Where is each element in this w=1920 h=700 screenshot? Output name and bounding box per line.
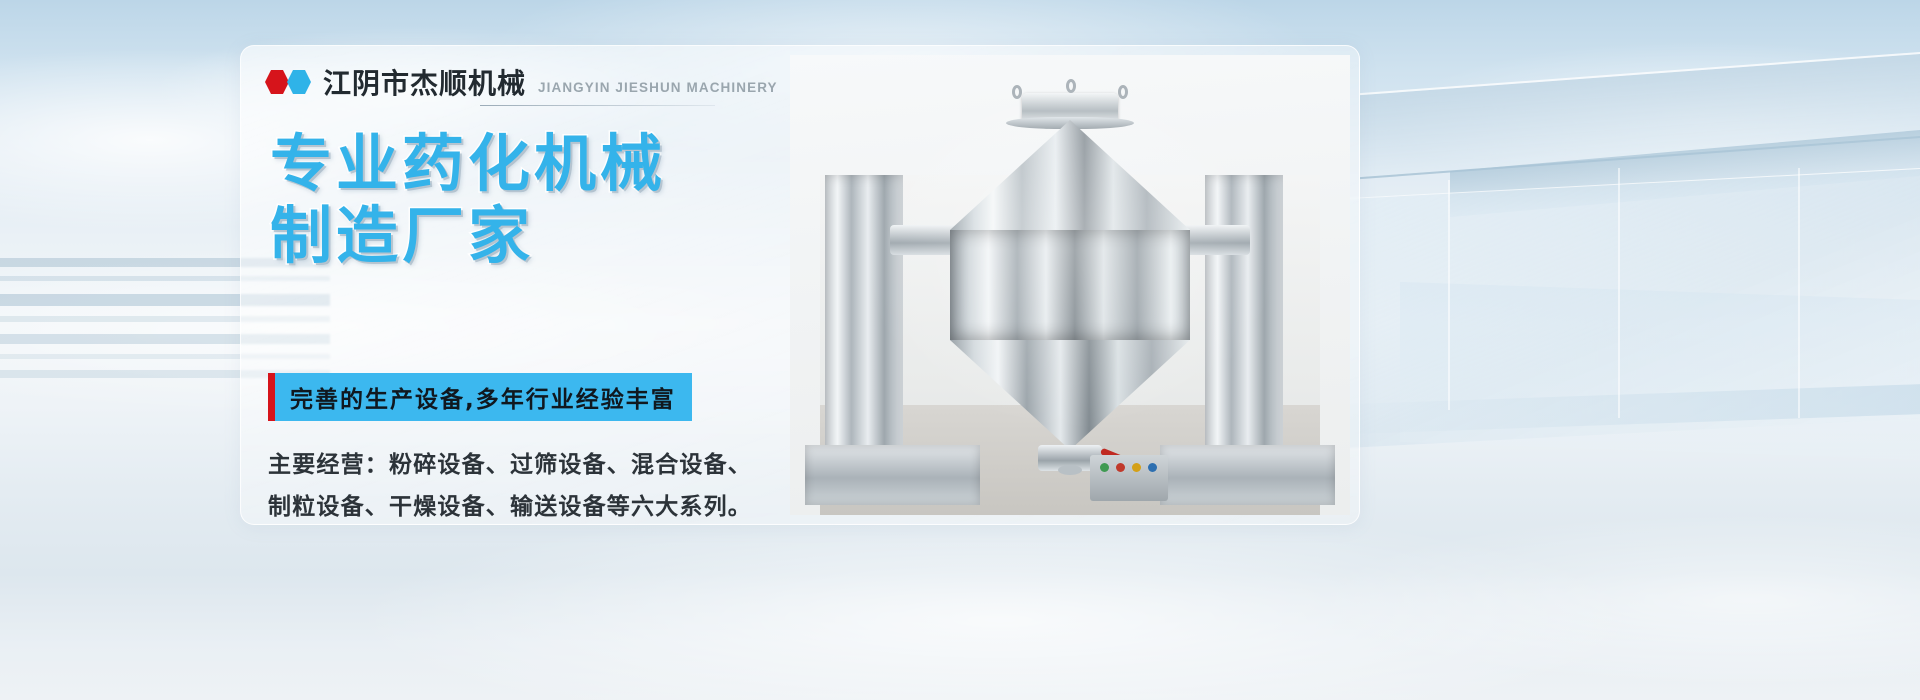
lifting-lug (1066, 79, 1076, 93)
rotary-shaft-right (1180, 225, 1250, 255)
tagline-band: 完善的生产设备,多年行业经验丰富 (268, 373, 692, 421)
indicator-green-icon (1100, 463, 1109, 472)
tagline-text: 完善的生产设备,多年行业经验丰富 (290, 380, 676, 414)
product-photo (790, 55, 1350, 515)
brand-name-en: JIANGYIN JIESHUN MACHINERY (538, 81, 778, 95)
control-panel (1090, 455, 1168, 501)
brand-name-cn: 江阴市杰顺机械 (323, 70, 526, 98)
description-line-1: 主要经营：粉碎设备、过筛设备、混合设备、 (268, 445, 788, 487)
background-glass-building (1300, 0, 1920, 700)
description-line-2: 制粒设备、干燥设备、输送设备等六大系列。 (268, 487, 788, 529)
indicator-red-icon (1116, 463, 1125, 472)
base-leg-left (805, 445, 980, 505)
logo-divider (480, 105, 715, 106)
indicator-blue-icon (1148, 463, 1157, 472)
lifting-lug (1118, 85, 1128, 99)
base-leg-right (1160, 445, 1335, 505)
hero-banner: 江阴市杰顺机械 JIANGYIN JIESHUN MACHINERY 专业药化机… (0, 0, 1920, 700)
brand-logo[interactable]: 江阴市杰顺机械 JIANGYIN JIESHUN MACHINERY (265, 70, 778, 98)
headline: 专业药化机械 制造厂家 (270, 128, 666, 272)
lifting-lug (1012, 85, 1022, 99)
center-shell (950, 230, 1190, 340)
headline-line-2: 制造厂家 (270, 200, 666, 272)
hexagon-pair-icon (265, 70, 311, 94)
indicator-yellow-icon (1132, 463, 1141, 472)
description-block: 主要经营：粉碎设备、过筛设备、混合设备、 制粒设备、干燥设备、输送设备等六大系列… (268, 445, 788, 529)
headline-line-1: 专业药化机械 (270, 128, 666, 200)
valve-hinge (1058, 465, 1082, 475)
